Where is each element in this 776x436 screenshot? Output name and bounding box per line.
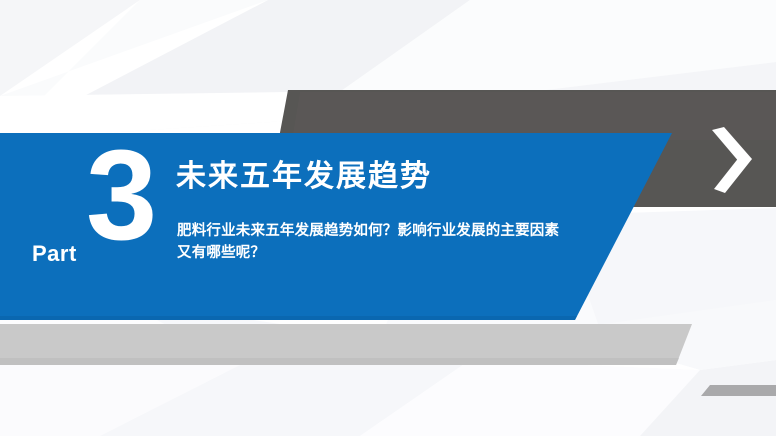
content-layer: Part 3 未来五年发展趋势 肥料行业未来五年发展趋势如何？影响行业发展的主要… (0, 0, 776, 436)
section-subheadline: 肥料行业未来五年发展趋势如何？影响行业发展的主要因素又有哪些呢？ (177, 221, 569, 265)
chevron-right-icon[interactable] (706, 126, 756, 194)
part-number: 3 (86, 132, 155, 260)
slide-canvas: Part 3 未来五年发展趋势 肥料行业未来五年发展趋势如何？影响行业发展的主要… (0, 0, 776, 436)
section-headline: 未来五年发展趋势 (176, 160, 432, 195)
next-section-button[interactable] (706, 126, 756, 194)
part-label: Part (32, 243, 77, 265)
